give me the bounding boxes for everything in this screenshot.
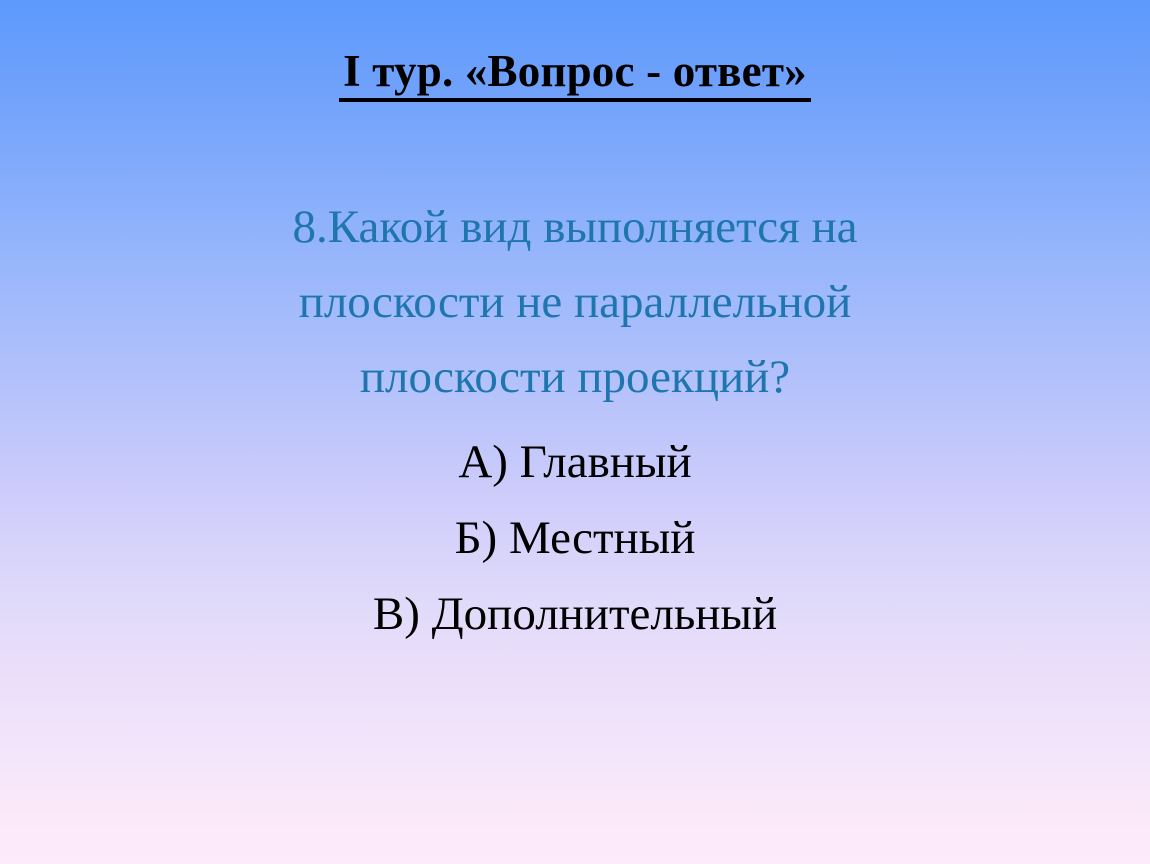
question-line-3: плоскости проекций? — [0, 340, 1150, 415]
answer-option-b[interactable]: Б) Местный — [0, 500, 1150, 576]
page-title: I тур. «Вопрос - ответ» — [339, 48, 811, 102]
question-line-2: плоскости не параллельной — [0, 265, 1150, 340]
answer-options-list: А) Главный Б) Местный В) Дополнительный — [0, 424, 1150, 652]
question-block: 8.Какой вид выполняется на плоскости не … — [0, 190, 1150, 415]
question-line-1: 8.Какой вид выполняется на — [0, 190, 1150, 265]
answer-option-c[interactable]: В) Дополнительный — [0, 576, 1150, 652]
slide-title-container: I тур. «Вопрос - ответ» — [0, 48, 1150, 102]
answer-option-a[interactable]: А) Главный — [0, 424, 1150, 500]
presentation-slide: I тур. «Вопрос - ответ» 8.Какой вид выпо… — [0, 0, 1150, 864]
